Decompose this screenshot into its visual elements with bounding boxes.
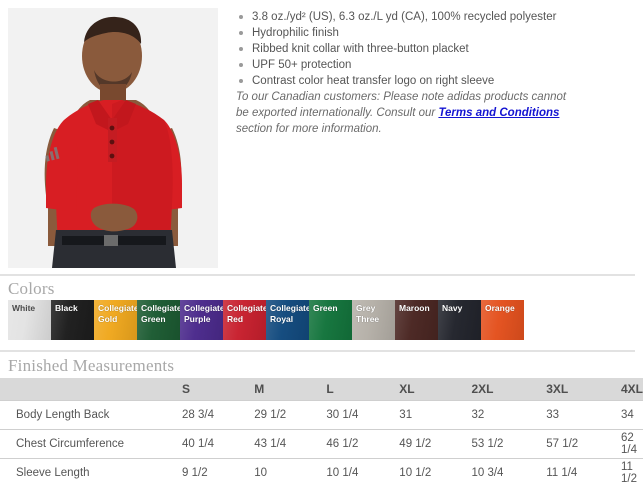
cell-l: 30 1/4 xyxy=(304,400,377,429)
color-swatch-collegiate-purple[interactable]: Collegiate Purple xyxy=(180,300,223,340)
cell-xl: 49 1/2 xyxy=(377,429,449,458)
color-swatch-white[interactable]: White xyxy=(8,300,51,340)
color-swatch-black[interactable]: Black xyxy=(51,300,94,340)
color-swatch-navy[interactable]: Navy xyxy=(438,300,481,340)
bullet-icon xyxy=(239,79,243,83)
row-label: Sleeve Length xyxy=(0,458,160,487)
cell-m: 29 1/2 xyxy=(232,400,304,429)
cell-4xl: 62 1/4 xyxy=(599,429,643,458)
cell-l: 46 1/2 xyxy=(304,429,377,458)
note-text-after: section for more information. xyxy=(236,123,382,135)
list-item: Ribbed knit collar with three-button pla… xyxy=(236,41,636,57)
bullet-icon xyxy=(239,47,243,51)
colors-section-divider xyxy=(0,274,635,276)
cell-2xl: 10 3/4 xyxy=(449,458,524,487)
column-header-4xl: 4XL xyxy=(599,378,643,400)
product-photo-image xyxy=(8,8,218,268)
row-label: Body Length Back xyxy=(0,400,160,429)
cell-l: 10 1/4 xyxy=(304,458,377,487)
cell-4xl: 34 xyxy=(599,400,643,429)
column-header-xl: XL xyxy=(377,378,449,400)
swatch-label: Black xyxy=(55,303,93,314)
feature-text: Ribbed knit collar with three-button pla… xyxy=(252,43,469,55)
cell-m: 10 xyxy=(232,458,304,487)
swatch-label: Green xyxy=(313,303,351,314)
swatch-label: Navy xyxy=(442,303,480,314)
bullet-icon xyxy=(239,31,243,35)
feature-text: 3.8 oz./yd² (US), 6.3 oz./L yd (CA), 100… xyxy=(252,11,556,23)
cell-xl: 10 1/2 xyxy=(377,458,449,487)
measurements-heading: Finished Measurements xyxy=(8,356,174,376)
cell-s: 9 1/2 xyxy=(160,458,232,487)
swatch-label: Collegiate Green xyxy=(141,303,179,324)
list-item: 3.8 oz./yd² (US), 6.3 oz./L yd (CA), 100… xyxy=(236,9,636,25)
column-header-s: S xyxy=(160,378,232,400)
feature-text: Contrast color heat transfer logo on rig… xyxy=(252,75,494,87)
table-row: Body Length Back 28 3/4 29 1/2 30 1/4 31… xyxy=(0,400,643,429)
canadian-customers-note: To our Canadian customers: Please note a… xyxy=(236,89,581,137)
feature-text: UPF 50+ protection xyxy=(252,59,351,71)
swatch-label: Grey Three xyxy=(356,303,394,324)
row-label: Chest Circumference xyxy=(0,429,160,458)
cell-xl: 31 xyxy=(377,400,449,429)
color-swatch-collegiate-red[interactable]: Collegiate Red xyxy=(223,300,266,340)
cell-2xl: 32 xyxy=(449,400,524,429)
cell-m: 43 1/4 xyxy=(232,429,304,458)
color-swatch-orange[interactable]: Orange xyxy=(481,300,524,340)
swatch-label: Maroon xyxy=(399,303,437,314)
cell-3xl: 57 1/2 xyxy=(524,429,599,458)
bullet-icon xyxy=(239,63,243,67)
swatch-label: Collegiate Gold xyxy=(98,303,136,324)
swatch-label: Collegiate Purple xyxy=(184,303,222,324)
table-body: Body Length Back 28 3/4 29 1/2 30 1/4 31… xyxy=(0,400,643,487)
feature-list-container: 3.8 oz./yd² (US), 6.3 oz./L yd (CA), 100… xyxy=(236,9,636,89)
cell-s: 40 1/4 xyxy=(160,429,232,458)
table-header-row: S M L XL 2XL 3XL 4XL xyxy=(0,378,643,400)
column-header-m: M xyxy=(232,378,304,400)
cell-2xl: 53 1/2 xyxy=(449,429,524,458)
swatch-label: Orange xyxy=(485,303,523,314)
colors-heading: Colors xyxy=(8,279,55,299)
color-swatch-green[interactable]: Green xyxy=(309,300,352,340)
column-header-3xl: 3XL xyxy=(524,378,599,400)
table-row: Sleeve Length 9 1/2 10 10 1/4 10 1/2 10 … xyxy=(0,458,643,487)
list-item: Hydrophilic finish xyxy=(236,25,636,41)
list-item: Contrast color heat transfer logo on rig… xyxy=(236,73,636,89)
color-swatch-row: White Black Collegiate Gold Collegiate G… xyxy=(8,300,524,340)
color-swatch-grey-three[interactable]: Grey Three xyxy=(352,300,395,340)
finished-measurements-table: S M L XL 2XL 3XL 4XL Body Length Back 28… xyxy=(0,378,643,487)
list-item: UPF 50+ protection xyxy=(236,57,636,73)
table-header: S M L XL 2XL 3XL 4XL xyxy=(0,378,643,400)
product-photo[interactable] xyxy=(8,8,218,268)
feature-list: 3.8 oz./yd² (US), 6.3 oz./L yd (CA), 100… xyxy=(236,9,636,89)
color-swatch-collegiate-green[interactable]: Collegiate Green xyxy=(137,300,180,340)
swatch-label: Collegiate Royal xyxy=(270,303,308,324)
column-header-2xl: 2XL xyxy=(449,378,524,400)
cell-3xl: 33 xyxy=(524,400,599,429)
measurements-section-divider xyxy=(0,350,635,352)
cell-s: 28 3/4 xyxy=(160,400,232,429)
cell-4xl: 11 1/2 xyxy=(599,458,643,487)
swatch-label: Collegiate Red xyxy=(227,303,265,324)
cell-3xl: 11 1/4 xyxy=(524,458,599,487)
bullet-icon xyxy=(239,15,243,19)
terms-and-conditions-link[interactable]: Terms and Conditions xyxy=(438,107,559,119)
color-swatch-maroon[interactable]: Maroon xyxy=(395,300,438,340)
swatch-label: White xyxy=(12,303,50,314)
color-swatch-collegiate-gold[interactable]: Collegiate Gold xyxy=(94,300,137,340)
column-header-l: L xyxy=(304,378,377,400)
color-swatch-collegiate-royal[interactable]: Collegiate Royal xyxy=(266,300,309,340)
table-row: Chest Circumference 40 1/4 43 1/4 46 1/2… xyxy=(0,429,643,458)
feature-text: Hydrophilic finish xyxy=(252,27,339,39)
product-overview-section: 3.8 oz./yd² (US), 6.3 oz./L yd (CA), 100… xyxy=(0,0,643,262)
column-header-blank xyxy=(0,378,160,400)
